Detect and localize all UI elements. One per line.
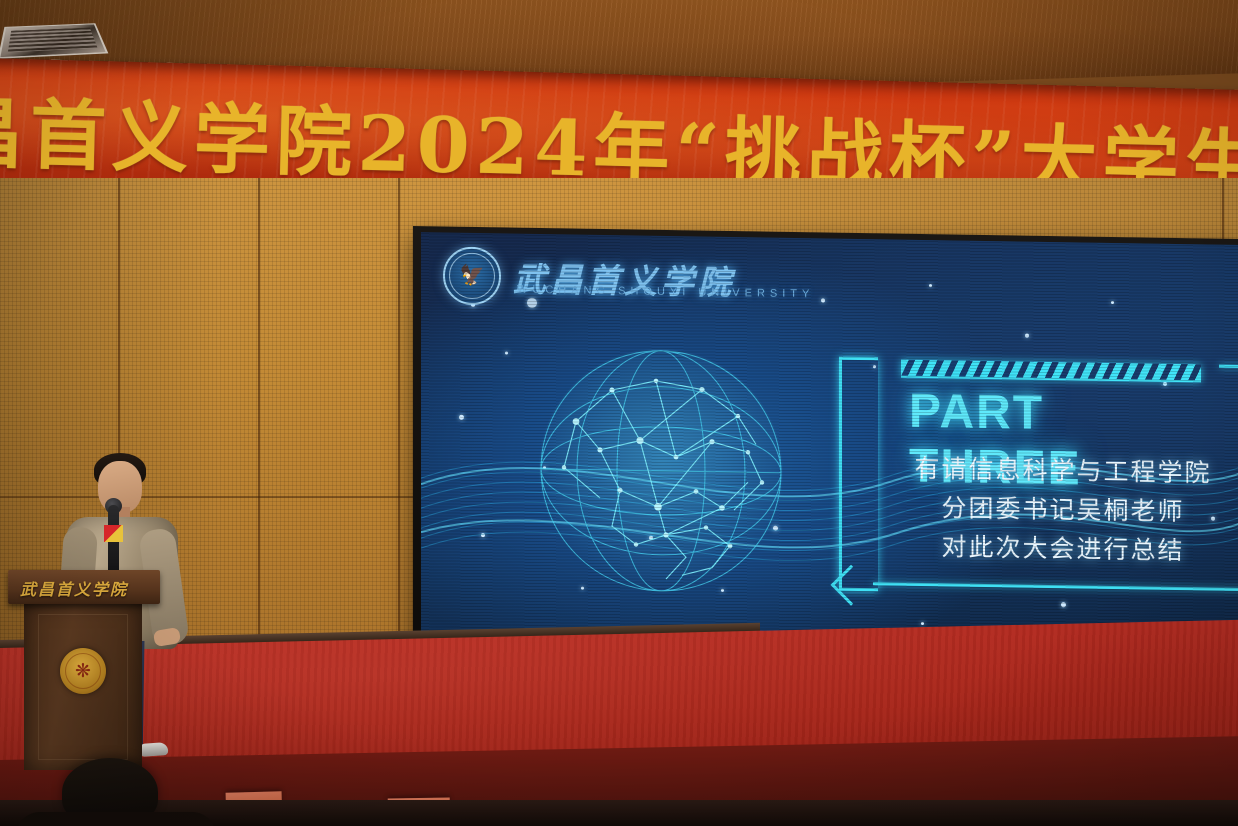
wall-seam	[258, 178, 260, 678]
slide-hud-frame: PART THREE 有请信息科学与工程学院 分团委书记吴桐老师 对此次大会进行…	[839, 357, 1229, 591]
eagle-glyph: 🦅	[460, 266, 485, 286]
hud-top-rule	[1219, 365, 1238, 372]
slide-line-1: 有请信息科学与工程学院	[887, 449, 1238, 493]
slide-line-3: 对此次大会进行总结	[887, 527, 1238, 571]
hud-hatch-stripes-icon	[901, 360, 1201, 383]
led-screen: 🦅 武昌首义学院 WUCHANG SHOUYI UNIVERSITY	[413, 226, 1238, 671]
university-seal-icon: 🦅	[443, 246, 501, 305]
national-emblem-icon: ❋	[60, 648, 106, 694]
university-logo: 🦅 武昌首义学院	[443, 246, 735, 309]
hud-corner-bracket	[839, 357, 878, 592]
lectern-body: ❋	[24, 604, 142, 770]
lectern: ❋ 武昌首义学院	[8, 570, 160, 770]
microphone-flag	[104, 525, 123, 542]
air-vent-icon	[0, 23, 108, 58]
conference-hall-photo: 昌首义学院2024年“挑战杯”大学生创业	[0, 0, 1238, 826]
audience-shoulders	[16, 812, 216, 826]
slide-canvas: 🦅 武昌首义学院 WUCHANG SHOUYI UNIVERSITY	[421, 232, 1238, 655]
wireframe-globe-icon	[516, 329, 806, 624]
lectern-top: 武昌首义学院	[8, 570, 160, 604]
slide-line-2: 分团委书记吴桐老师	[887, 488, 1238, 532]
slide-body-text: 有请信息科学与工程学院 分团委书记吴桐老师 对此次大会进行总结	[887, 449, 1238, 571]
lectern-name-plate: 武昌首义学院	[20, 576, 128, 600]
wall-seam	[398, 178, 400, 678]
